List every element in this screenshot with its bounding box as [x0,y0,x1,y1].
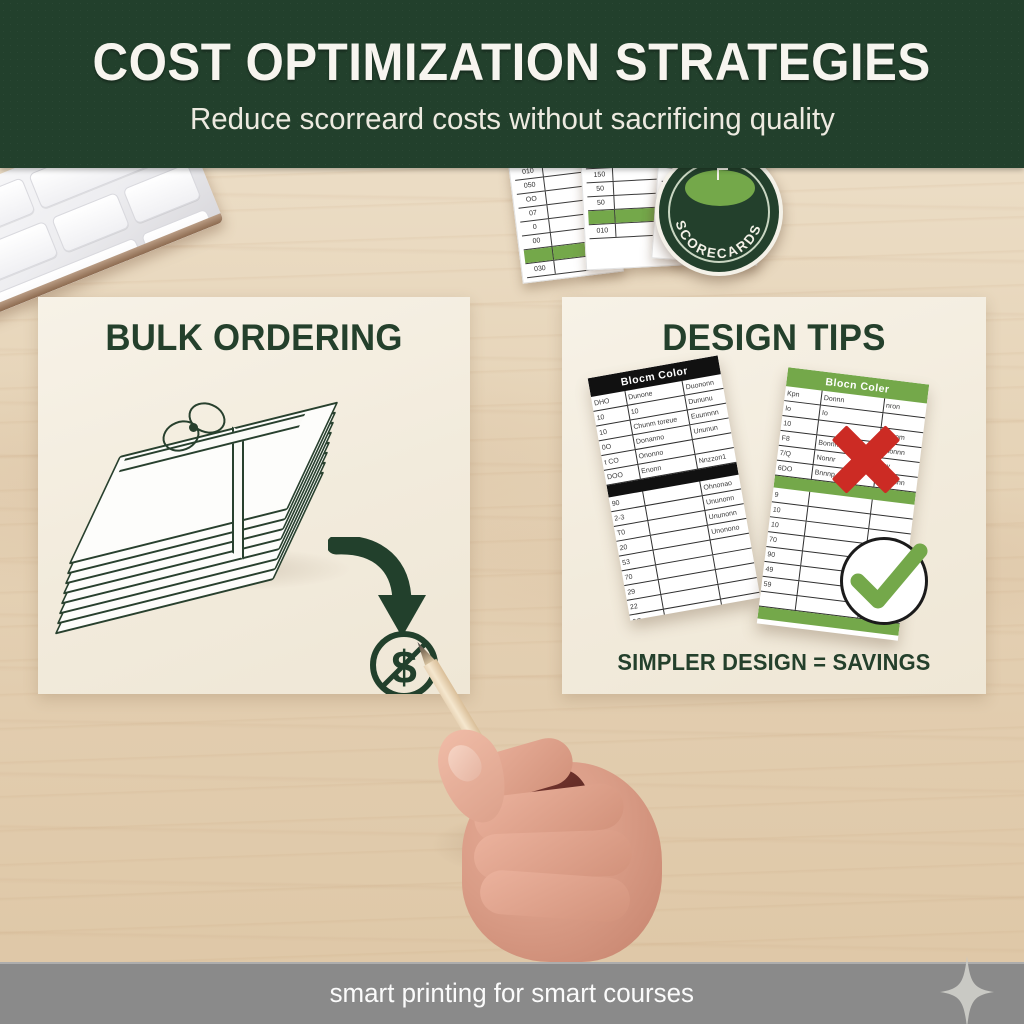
red-x-mark-icon [814,405,918,509]
footer-bar: smart printing for smart courses [0,962,1024,1024]
scorecard-cell: 030 [525,261,555,277]
green-check-mark-icon [836,529,936,629]
scorecard-simple-rows-lower: 90Ohnonao 2-3Ununonn T0Ununonn 20Unonono… [609,475,761,621]
scorecard-simple: Blocm Color DHODunoneDuononn 1010Dununu … [588,355,761,620]
hand-holding-pencil [400,620,740,970]
badge-label: SCORECARDS [659,152,779,272]
cell [724,608,761,621]
hand [440,720,690,970]
panel-title-bulk-ordering: BULK ORDERING [51,317,457,359]
header-banner: COST OPTIMIZATION STRATEGIES Reduce scor… [0,0,1024,168]
page-subtitle: Reduce scorreard costs without sacrifici… [190,101,835,137]
footer-tagline: smart printing for smart courses [330,978,694,1009]
infographic-canvas: 010 050 OO 07 0 00 030 410 150 50 50 010 [0,0,1024,1024]
ribbon-bow-icon [162,405,232,463]
scorecard-cell: 010 [589,224,617,238]
stack-ribbon-vertical [232,427,244,560]
bow-knot [189,423,198,432]
sparkle-icon [940,956,994,1024]
bundled-scorecard-stack-icon [66,397,356,597]
panel-title-design-tips: DESIGN TIPS [575,317,974,359]
page-title: COST OPTIMIZATION STRATEGIES [93,32,931,93]
scorecard-cell [588,210,616,224]
scorecard-cell: 150 [586,168,614,182]
badge-label-text: SCORECARDS [673,219,765,262]
thumbnail [442,739,488,787]
svg-text:SCORECARDS: SCORECARDS [673,219,765,262]
scorecard-cell: 50 [587,182,615,196]
scorecard-cell: 50 [587,196,615,210]
